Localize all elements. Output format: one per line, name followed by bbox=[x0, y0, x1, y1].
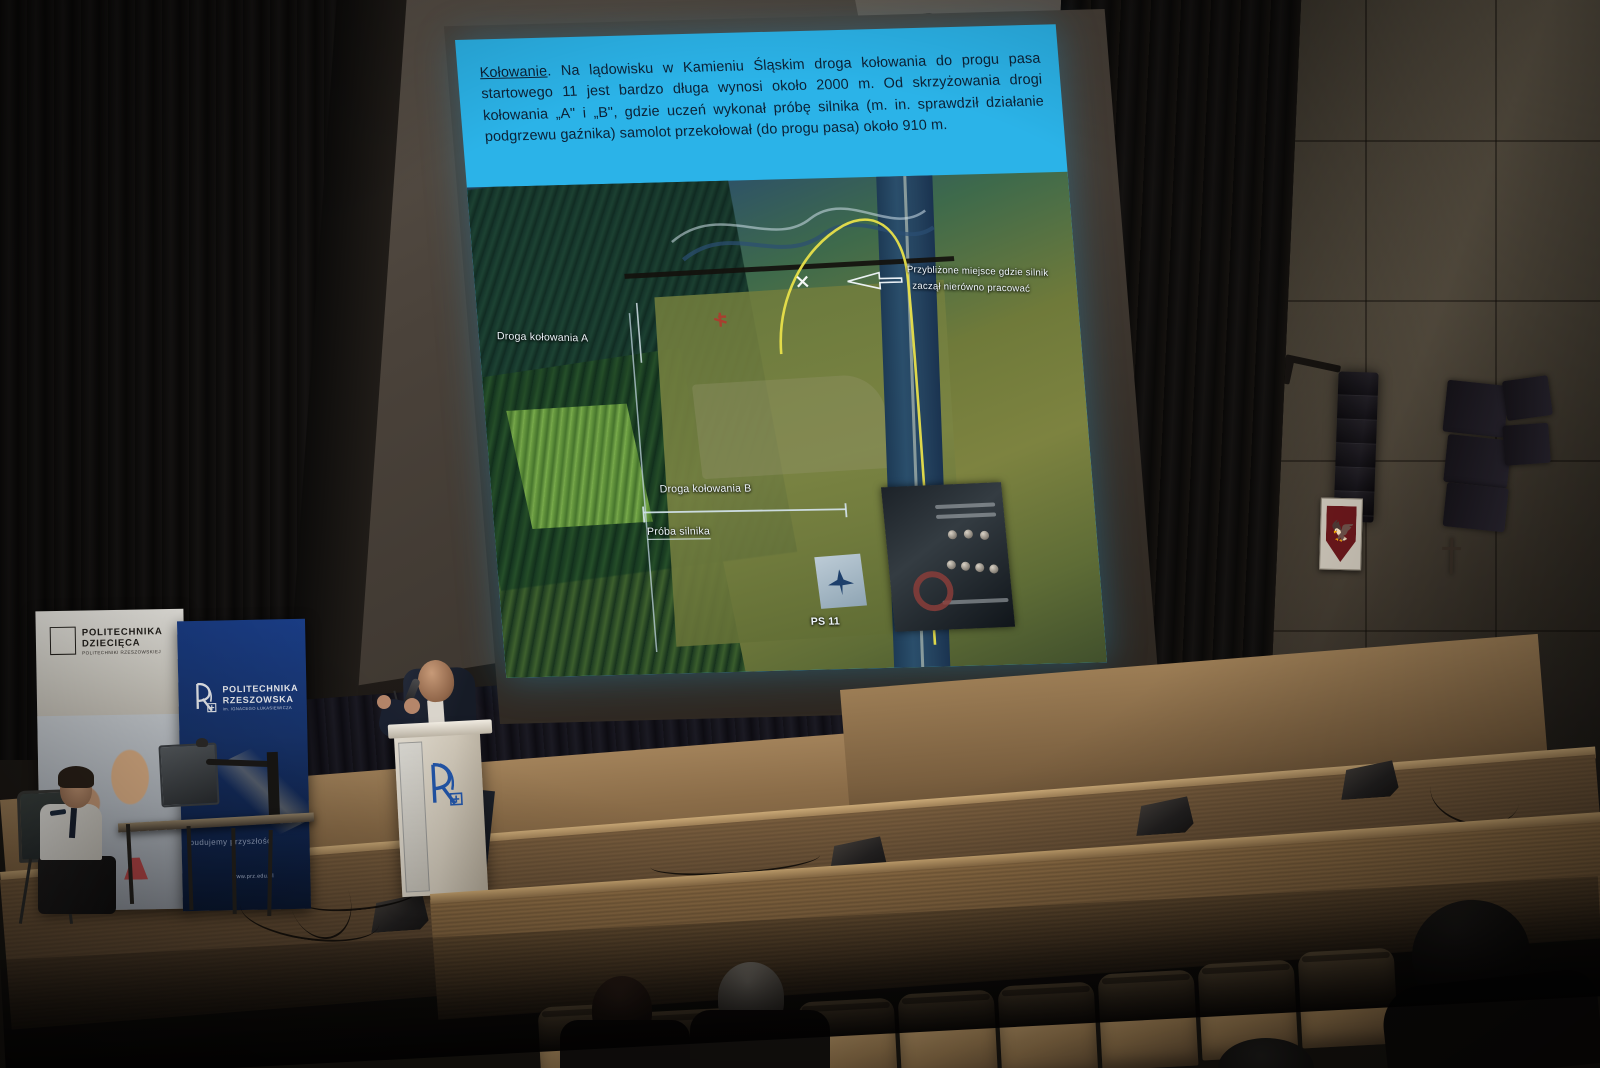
politechnika-rzeszowska-logo: POLITECHNIKA RZESZOWSKA im. IGNACEGO ŁUK… bbox=[194, 681, 299, 717]
pr-org-sub: im. IGNACEGO ŁUKASIEWICZA bbox=[223, 705, 292, 711]
pd-line1: POLITECHNIKA bbox=[82, 626, 163, 638]
slide-heading: Kołowanie bbox=[479, 64, 548, 82]
label-ps11: PS 11 bbox=[810, 616, 840, 628]
crucifix-icon bbox=[1450, 538, 1454, 574]
label-engine-test: Próba silnika bbox=[647, 525, 711, 540]
line-array-speaker bbox=[1432, 370, 1559, 546]
field-patch bbox=[692, 373, 892, 479]
pr-line2: RZESZOWSKA bbox=[223, 693, 294, 704]
operator-hair bbox=[58, 766, 94, 788]
polish-eagle-emblem-icon: 🦅 bbox=[1319, 497, 1363, 570]
pd-line2: DZIECIĘCA bbox=[82, 637, 141, 649]
pd-org-sub: POLITECHNIKI RZESZOWSKIEJ bbox=[82, 649, 161, 655]
presenter-hand bbox=[377, 695, 391, 709]
politechnika-rzeszowska-logo-icon bbox=[429, 761, 465, 809]
label-taxiway-a: Droga kołowania A bbox=[497, 330, 589, 344]
av-operator bbox=[38, 770, 108, 920]
pd-mark-icon bbox=[50, 627, 76, 655]
cockpit-inset-photo bbox=[881, 482, 1015, 632]
auditorium-photo: 🦅 Kołowanie. Na lądowisku w Kamieniu Ślą… bbox=[0, 0, 1600, 1068]
aerial-photo: Droga kołowania A Droga kołowania B Prób… bbox=[467, 172, 1107, 678]
pr-mark-icon bbox=[194, 683, 217, 713]
camera-icon bbox=[196, 738, 208, 747]
pr-org-name: POLITECHNIKA RZESZOWSKA bbox=[222, 683, 298, 706]
politechnika-dziecieca-logo: POLITECHNIKA DZIECIĘCA POLITECHNIKI RZES… bbox=[50, 625, 175, 661]
runway-threshold-photo bbox=[814, 554, 867, 609]
slide-paragraph: Kołowanie. Na lądowisku w Kamieniu Śląsk… bbox=[479, 49, 1046, 149]
banner-tagline: budujemy przyszłość bbox=[190, 836, 310, 848]
presenter-mic-hand bbox=[404, 698, 420, 714]
pd-org-name: POLITECHNIKA DZIECIĘCA bbox=[82, 626, 163, 649]
projection-screen: Kołowanie. Na lądowisku w Kamieniu Śląsk… bbox=[455, 23, 1150, 718]
presentation-slide: Kołowanie. Na lądowisku w Kamieniu Śląsk… bbox=[455, 24, 1107, 678]
av-preview-monitor[interactable] bbox=[158, 743, 219, 808]
slide-body: . Na lądowisku w Kamieniu Śląskim droga … bbox=[481, 51, 1045, 145]
orchard-rows bbox=[506, 404, 653, 529]
operator-legs bbox=[38, 856, 116, 914]
label-taxiway-b: Droga kołowania B bbox=[659, 483, 752, 496]
